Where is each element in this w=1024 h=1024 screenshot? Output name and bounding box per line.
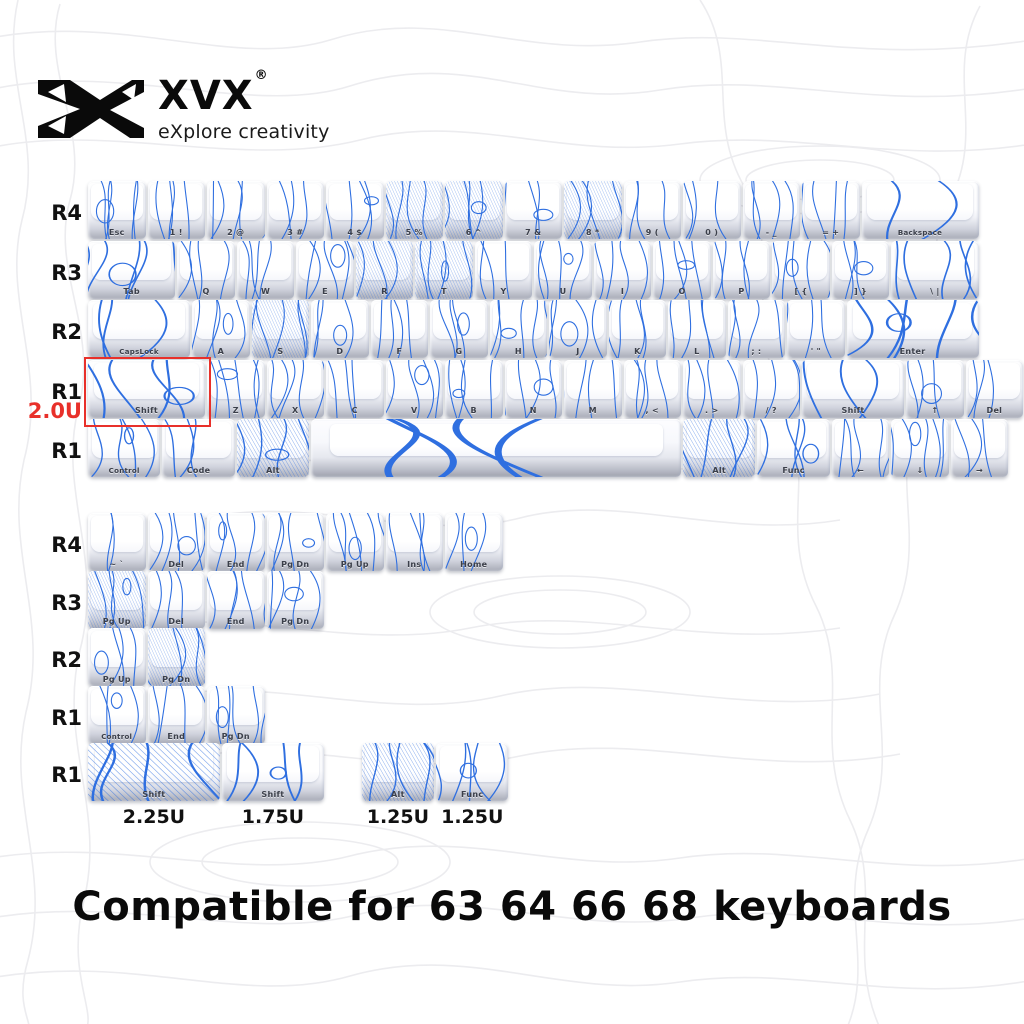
- keycap-top-surface: [418, 244, 470, 280]
- keycap-top-surface: [388, 516, 440, 552]
- keycap-top-surface: [91, 516, 143, 552]
- row-label-r2-main-2: R2: [36, 320, 82, 344]
- keycap-legend: End: [207, 561, 265, 569]
- keycap-legend: \ |: [891, 288, 978, 296]
- keycap-control[interactable]: Control: [88, 686, 146, 744]
- keycap-legend: / ?: [743, 407, 801, 415]
- brand-tagline: eXplore creativity: [158, 123, 330, 142]
- keycap-legend: ] }: [832, 288, 890, 296]
- keycap-legend: →: [951, 467, 1009, 475]
- row-label-r1-extras-4: R1: [36, 763, 82, 787]
- registered-mark: ®: [255, 68, 269, 83]
- keycap-top-surface: [448, 516, 500, 552]
- row-label-r3-extras-1: R3: [36, 591, 82, 615]
- keycap-legend: X: [267, 407, 325, 415]
- keycap-top-surface: [210, 516, 262, 552]
- keycap-top-surface: [95, 746, 214, 782]
- keycap-top-surface: [150, 574, 202, 610]
- keycap-top-surface: [269, 516, 321, 552]
- keycap-legend: U: [534, 288, 592, 296]
- keycap-capslock[interactable]: CapsLock: [88, 300, 190, 358]
- keycap-legend: Enter: [847, 348, 979, 356]
- keycap-4[interactable]: 4 $: [326, 181, 384, 239]
- keycap-top-surface: [255, 303, 307, 339]
- keycap-legend: Func: [757, 467, 829, 475]
- keycap-top-surface: [745, 184, 797, 220]
- keycap-legend: Control: [88, 734, 146, 741]
- keycap-top-surface: [210, 363, 262, 399]
- keycap-x[interactable]: X: [267, 360, 325, 418]
- keycap-top-surface: [150, 689, 202, 725]
- keycap-set-main-keyboard: Esc1 !2 @3 #4 $5 %6 ^7 &8 *9 (0 )- _= +B…: [88, 181, 988, 501]
- x-logo-icon: [36, 78, 146, 140]
- keycap-top-surface: [240, 244, 292, 280]
- keycap-home[interactable]: Home: [445, 513, 503, 571]
- keycap-legend: Pg Dn: [148, 676, 206, 684]
- keycap-spacebar[interactable]: \ |: [891, 241, 978, 299]
- keycap-o[interactable]: O: [653, 241, 711, 299]
- keycap-w[interactable]: W: [237, 241, 295, 299]
- keycap-top-surface: [227, 746, 319, 782]
- keycap-top-surface: [969, 363, 1021, 399]
- keycap-legend: Shift: [222, 791, 324, 799]
- keycap-legend: Func: [436, 791, 508, 799]
- keycap-shift[interactable]: Shift: [222, 743, 324, 801]
- row-label-r2-extras-2: R2: [36, 648, 82, 672]
- keycap-legend: Pg Dn: [267, 618, 325, 626]
- keycap-k[interactable]: K: [609, 300, 667, 358]
- keycap-legend: Pg Up: [326, 561, 384, 569]
- keycap-e[interactable]: E: [296, 241, 354, 299]
- keycap-top-surface: [493, 303, 545, 339]
- keycap-alt[interactable]: Alt: [683, 419, 755, 477]
- keycap-y[interactable]: Y: [475, 241, 533, 299]
- keycap-legend: F: [371, 348, 429, 356]
- keycap-top-surface: [807, 363, 899, 399]
- keycap-legend: , <: [624, 407, 682, 415]
- keycap-top-surface: [91, 184, 143, 220]
- keycap-top-surface: [210, 689, 262, 725]
- keycap-legend: Tab: [88, 288, 175, 296]
- keycap-top-surface: [686, 363, 738, 399]
- keycap-g[interactable]: G: [430, 300, 488, 358]
- keycap-top-surface: [150, 516, 202, 552]
- keycap-legend: W: [237, 288, 295, 296]
- keycap-pg-dn[interactable]: Pg Dn: [148, 628, 206, 686]
- keycap-top-surface: [269, 574, 321, 610]
- keycap-legend: D: [311, 348, 369, 356]
- keycap-legend: ↑: [906, 407, 964, 415]
- keycap-c[interactable]: C: [326, 360, 384, 418]
- keycap-top-surface: [195, 303, 247, 339]
- keycap-legend: . >: [683, 407, 741, 415]
- keycap-top-surface: [329, 516, 381, 552]
- keycap-top-surface: [210, 184, 262, 220]
- keycap-pg-dn[interactable]: Pg Dn: [267, 571, 325, 629]
- keycap-d[interactable]: D: [311, 300, 369, 358]
- keycap-legend: O: [653, 288, 711, 296]
- keycap-n[interactable]: N: [505, 360, 563, 418]
- size-label-1-75u: 1.75U: [228, 806, 318, 828]
- keycap-q[interactable]: Q: [177, 241, 235, 299]
- keycap-legend: Pg Up: [88, 676, 146, 684]
- keycap-legend: 7 &: [505, 229, 563, 237]
- brand-logo: XVX® eXplore creativity: [36, 76, 330, 142]
- keycap-legend: K: [609, 348, 667, 356]
- keycap-legend: Ins: [386, 561, 444, 569]
- keycap-6[interactable]: 6 ^: [445, 181, 503, 239]
- row-label-r3-main-1: R3: [36, 261, 82, 285]
- keycap-top-surface: [210, 574, 262, 610]
- keycap-legend: E: [296, 288, 354, 296]
- keycap-top-surface: [166, 422, 231, 458]
- keycap-pg-dn[interactable]: Pg Dn: [207, 686, 265, 744]
- keycap-legend: J: [549, 348, 607, 356]
- keycap-legend: Alt: [362, 791, 434, 799]
- keycap-m[interactable]: M: [564, 360, 622, 418]
- keycap-legend: H: [490, 348, 548, 356]
- keycap-legend: 8 *: [564, 229, 622, 237]
- keycap-code[interactable]: Code: [162, 419, 234, 477]
- keycap-legend: Alt: [683, 467, 755, 475]
- keycap-spacebar[interactable]: →: [951, 419, 1009, 477]
- keycap-tab[interactable]: Tab: [88, 241, 175, 299]
- keycap-top-surface: [92, 422, 157, 458]
- keycap-u[interactable]: U: [534, 241, 592, 299]
- keycap-spacebar[interactable]: [311, 419, 681, 477]
- keycap-shift[interactable]: Shift: [802, 360, 904, 418]
- keycap-legend: 1 !: [148, 229, 206, 237]
- keycap-top-surface: [150, 184, 202, 220]
- row-label-r4-extras-0: R4: [36, 533, 82, 557]
- keycap-legend: A: [192, 348, 250, 356]
- keycap-legend: Control: [88, 468, 160, 475]
- keycap-del[interactable]: Del: [148, 513, 206, 571]
- keycap-legend: = +: [802, 229, 860, 237]
- keycap-shift[interactable]: Shift: [88, 360, 205, 418]
- keycap-top-surface: [687, 422, 752, 458]
- keycap-alt[interactable]: Alt: [237, 419, 309, 477]
- keycap-spacebar[interactable]: , <: [624, 360, 682, 418]
- keycap-top-surface: [805, 184, 857, 220]
- keycap-pg-up[interactable]: Pg Up: [88, 571, 146, 629]
- keycap-top-surface: [716, 244, 768, 280]
- keycap-top-surface: [478, 244, 530, 280]
- keycap-top-surface: [329, 184, 381, 220]
- keycap-legend: C: [326, 407, 384, 415]
- keycap-legend: G: [430, 348, 488, 356]
- keycap-set-extra-keys: ~ `DelEndPg DnPg UpInsHomePg UpDelEndPg …: [88, 513, 508, 803]
- keycap-top-surface: [93, 303, 185, 339]
- keycap-legend: S: [252, 348, 310, 356]
- keycap-top-surface: [507, 363, 559, 399]
- row-label-r4-main-0: R4: [36, 201, 82, 225]
- keycap-top-surface: [597, 244, 649, 280]
- keycap-legend: - _: [743, 229, 801, 237]
- keycap-8[interactable]: 8 *: [564, 181, 622, 239]
- keycap-top-surface: [567, 184, 619, 220]
- keycap-top-surface: [537, 244, 589, 280]
- keycap-legend: L: [668, 348, 726, 356]
- keycap-ins[interactable]: Ins: [386, 513, 444, 571]
- keycap-legend: Pg Dn: [207, 733, 265, 741]
- keycap-legend: 0 ): [683, 229, 741, 237]
- keycap-legend: [ {: [772, 288, 830, 296]
- keycap-top-surface: [440, 746, 505, 782]
- keycap-top-surface: [180, 244, 232, 280]
- keycap-top-surface: [671, 303, 723, 339]
- keycap-func[interactable]: Func: [757, 419, 829, 477]
- keycap-5[interactable]: 5 %: [386, 181, 444, 239]
- keycap-legend: 9 (: [624, 229, 682, 237]
- keycap-s[interactable]: S: [252, 300, 310, 358]
- keycap-top-surface: [507, 184, 559, 220]
- keycap-top-surface: [954, 422, 1006, 458]
- keycap-top-surface: [91, 574, 143, 610]
- keycap-top-surface: [240, 422, 305, 458]
- keycap-del[interactable]: Del: [966, 360, 1024, 418]
- keycap-legend: ; :: [728, 348, 786, 356]
- keycap-spacebar[interactable]: ←: [832, 419, 890, 477]
- keycap-shift[interactable]: Shift: [88, 743, 220, 801]
- keycap-legend: Home: [445, 561, 503, 569]
- keycap-top-surface: [745, 363, 797, 399]
- keycap-legend: End: [207, 618, 265, 626]
- keycap-top-surface: [314, 303, 366, 339]
- keycap-legend: I: [594, 288, 652, 296]
- keycap-legend: 4 $: [326, 229, 384, 237]
- keycap-top-surface: [329, 363, 381, 399]
- keycap-legend: Esc: [88, 229, 146, 237]
- keycap-top-surface: [835, 244, 887, 280]
- keycap-top-surface: [761, 422, 826, 458]
- size-label-1-25u: 1.25U: [427, 806, 517, 828]
- keycap-p[interactable]: P: [713, 241, 771, 299]
- keycap-legend: Y: [475, 288, 533, 296]
- keycap-legend: ~ `: [88, 561, 146, 569]
- keycap-legend: P: [713, 288, 771, 296]
- keycap-legend: R: [356, 288, 414, 296]
- keycap-top-surface: [731, 303, 783, 339]
- keycap-l[interactable]: L: [668, 300, 726, 358]
- keycap-top-surface: [269, 184, 321, 220]
- keycap-backspace[interactable]: Backspace: [862, 181, 979, 239]
- keycap-legend: Shift: [88, 791, 220, 799]
- keycap-spacebar[interactable]: [ {: [772, 241, 830, 299]
- keycap-top-surface: [552, 303, 604, 339]
- keycap-spacebar[interactable]: ; :: [728, 300, 786, 358]
- keycap-control[interactable]: Control: [88, 419, 160, 477]
- keycap-legend: Del: [966, 407, 1024, 415]
- keycap-alt[interactable]: Alt: [362, 743, 434, 801]
- keycap-legend: Backspace: [862, 230, 979, 237]
- keycap-esc[interactable]: Esc: [88, 181, 146, 239]
- keycap-b[interactable]: B: [445, 360, 503, 418]
- keycap-top-surface: [299, 244, 351, 280]
- keycap-spacebar[interactable]: ] }: [832, 241, 890, 299]
- keycap-top-surface: [775, 244, 827, 280]
- keycap-spacebar[interactable]: ~ `: [88, 513, 146, 571]
- keycap-pg-dn[interactable]: Pg Dn: [267, 513, 325, 571]
- keycap-0[interactable]: 0 ): [683, 181, 741, 239]
- keycap-9[interactable]: 9 (: [624, 181, 682, 239]
- keycap-2[interactable]: 2 @: [207, 181, 265, 239]
- keycap-top-surface: [867, 184, 972, 220]
- keycap-pg-up[interactable]: Pg Up: [88, 628, 146, 686]
- keycap-top-surface: [91, 689, 143, 725]
- keycap-top-surface: [150, 631, 202, 667]
- keycap-top-surface: [92, 244, 171, 280]
- keycap-legend: Q: [177, 288, 235, 296]
- keycap-top-surface: [448, 363, 500, 399]
- keycap-r[interactable]: R: [356, 241, 414, 299]
- keycap-legend: 2 @: [207, 229, 265, 237]
- keycap-legend: Del: [148, 561, 206, 569]
- keycap-spacebar[interactable]: ↓: [891, 419, 949, 477]
- keycap-top-surface: [626, 184, 678, 220]
- keycap-spacebar[interactable]: ' ": [787, 300, 845, 358]
- keycap-7[interactable]: 7 &: [505, 181, 563, 239]
- row-label-r1-main-4: R1: [36, 439, 82, 463]
- keycap-top-surface: [853, 303, 972, 339]
- keycap-legend: 5 %: [386, 229, 444, 237]
- keycap-spacebar[interactable]: / ?: [743, 360, 801, 418]
- compatibility-caption: Compatible for 63 64 66 68 keyboards: [0, 884, 1024, 930]
- keycap-legend: End: [148, 733, 206, 741]
- keycap-legend: ←: [832, 467, 890, 475]
- keycap-top-surface: [894, 422, 946, 458]
- keycap-legend: ' ": [787, 348, 845, 356]
- keycap-end[interactable]: End: [148, 686, 206, 744]
- brand-name: XVX: [158, 73, 254, 119]
- background-topography: [0, 0, 1024, 1024]
- keycap-legend: M: [564, 407, 622, 415]
- keycap-j[interactable]: J: [549, 300, 607, 358]
- keycap-top-surface: [388, 184, 440, 220]
- keycap-top-surface: [656, 244, 708, 280]
- keycap-top-surface: [359, 244, 411, 280]
- keycap-1[interactable]: 1 !: [148, 181, 206, 239]
- keycap-end[interactable]: End: [207, 513, 265, 571]
- keycap-spacebar[interactable]: . >: [683, 360, 741, 418]
- keycap-legend: CapsLock: [88, 349, 190, 356]
- keycap-legend: Z: [207, 407, 265, 415]
- keycap-enter[interactable]: Enter: [847, 300, 979, 358]
- keycap-spacebar[interactable]: - _: [743, 181, 801, 239]
- keycap-top-surface: [91, 631, 143, 667]
- keycap-top-surface: [94, 363, 199, 399]
- keycap-t[interactable]: T: [415, 241, 473, 299]
- keycap-spacebar[interactable]: ↑: [906, 360, 964, 418]
- keycap-legend: Alt: [237, 467, 309, 475]
- keycap-del[interactable]: Del: [148, 571, 206, 629]
- keycap-top-surface: [433, 303, 485, 339]
- keycap-top-surface: [835, 422, 887, 458]
- keycap-legend: V: [386, 407, 444, 415]
- keycap-3[interactable]: 3 #: [267, 181, 325, 239]
- keycap-a[interactable]: A: [192, 300, 250, 358]
- keycap-legend: 3 #: [267, 229, 325, 237]
- keycap-legend: N: [505, 407, 563, 415]
- keycap-legend: Code: [162, 467, 234, 475]
- keycap-legend: B: [445, 407, 503, 415]
- callout-unit-label: 2.0U: [20, 399, 82, 423]
- keycap-top-surface: [365, 746, 430, 782]
- size-label-2-25u: 2.25U: [109, 806, 199, 828]
- keycap-top-surface: [374, 303, 426, 339]
- keycap-top-surface: [567, 363, 619, 399]
- keycap-legend: T: [415, 288, 473, 296]
- keycap-legend: Pg Dn: [267, 561, 325, 569]
- keycap-v[interactable]: V: [386, 360, 444, 418]
- keycap-pg-up[interactable]: Pg Up: [326, 513, 384, 571]
- keycap-spacebar[interactable]: = +: [802, 181, 860, 239]
- keycap-top-surface: [448, 184, 500, 220]
- keycap-legend: Shift: [802, 407, 904, 415]
- keycap-i[interactable]: I: [594, 241, 652, 299]
- keycap-legend: Pg Up: [88, 618, 146, 626]
- keycap-top-surface: [790, 303, 842, 339]
- keycap-top-surface: [612, 303, 664, 339]
- keycap-top-surface: [896, 244, 975, 280]
- keycap-legend: Del: [148, 618, 206, 626]
- keycap-top-surface: [388, 363, 440, 399]
- keycap-legend: ↓: [891, 467, 949, 475]
- keycap-legend: Shift: [88, 407, 205, 415]
- keycap-legend: 6 ^: [445, 229, 503, 237]
- keycap-top-surface: [330, 424, 663, 456]
- keycap-top-surface: [626, 363, 678, 399]
- keycap-func[interactable]: Func: [436, 743, 508, 801]
- keycap-top-surface: [686, 184, 738, 220]
- keycap-top-surface: [909, 363, 961, 399]
- keycap-h[interactable]: H: [490, 300, 548, 358]
- keycap-f[interactable]: F: [371, 300, 429, 358]
- keycap-z[interactable]: Z: [207, 360, 265, 418]
- row-label-r1-extras-3: R1: [36, 706, 82, 730]
- keycap-top-surface: [269, 363, 321, 399]
- keycap-end[interactable]: End: [207, 571, 265, 629]
